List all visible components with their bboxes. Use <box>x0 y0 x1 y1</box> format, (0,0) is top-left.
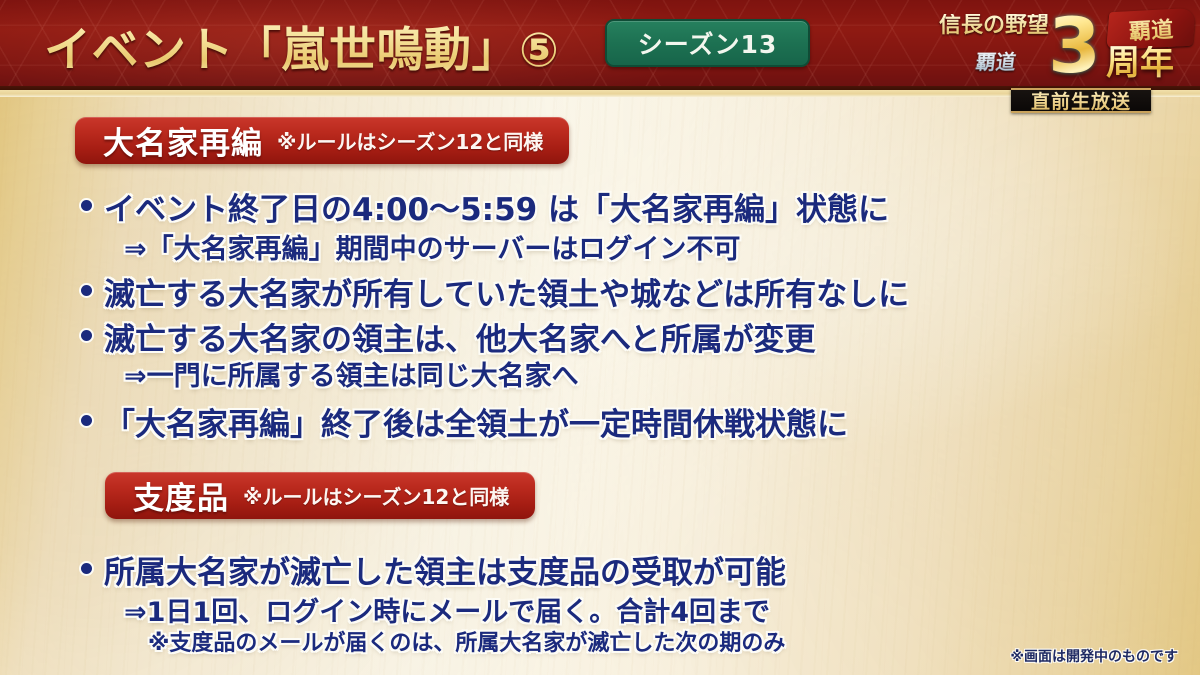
section-header-shitakuhin: 支度品 ※ルールはシーズン12と同様 <box>105 472 535 519</box>
game-subtitle-text: 覇道 <box>948 46 1044 75</box>
section-note: ※ルールはシーズン12と同様 <box>277 126 543 155</box>
footer-disclaimer: ※画面は開発中のものです <box>1010 646 1178 666</box>
anniversary-number: 3 <box>1048 8 1101 84</box>
bullet-marker <box>81 563 92 574</box>
section-header-daimyo-saihen: 大名家再編 ※ルールはシーズン12と同様 <box>75 117 569 164</box>
body-line: 「大名家再編」終了後は全領土が一定時間休戦状態に <box>104 399 848 444</box>
body-line: ※支度品のメールが届くのは、所属大名家が滅亡した次の期のみ <box>148 625 785 657</box>
body-line: 滅亡する大名家の領主は、他大名家へと所属が変更 <box>104 314 815 359</box>
body-line: イベント終了日の4:00〜5:59 は「大名家再編」状態に <box>104 184 889 229</box>
body-line: 所属大名家が滅亡した領主は支度品の受取が可能 <box>104 547 786 592</box>
body-line: ⇒1日1回、ログイン時にメールで届く。合計4回まで <box>124 590 770 629</box>
page-title: イベント「嵐世鳴動」⑤ <box>44 11 559 80</box>
body-line: 滅亡する大名家が所有していた領土や城などは所有なしに <box>104 269 909 314</box>
live-broadcast-banner: 直前生放送 <box>1011 88 1151 113</box>
section-note: ※ルールはシーズン12と同様 <box>243 481 509 510</box>
bullet-marker <box>81 200 92 211</box>
section-title: 大名家再編 <box>103 118 263 163</box>
anniversary-unit: 周年 <box>1106 46 1174 80</box>
game-title-text: 信長の野望 <box>935 14 1053 37</box>
bullet-marker <box>81 285 92 296</box>
section-title: 支度品 <box>133 473 229 518</box>
live-broadcast-label: 直前生放送 <box>1031 87 1131 114</box>
bullet-marker <box>81 415 92 426</box>
bullet-marker <box>81 330 92 341</box>
slide-canvas: イベント「嵐世鳴動」⑤ シーズン13 信長の野望 覇道 覇道 3 周年 直前生放… <box>0 0 1200 675</box>
body-line: ⇒一門に所属する領主は同じ大名家へ <box>124 354 579 393</box>
season-badge-label: シーズン13 <box>638 25 778 61</box>
season-badge: シーズン13 <box>605 19 810 67</box>
body-line: ⇒「大名家再編」期間中のサーバーはログイン不可 <box>124 227 740 266</box>
